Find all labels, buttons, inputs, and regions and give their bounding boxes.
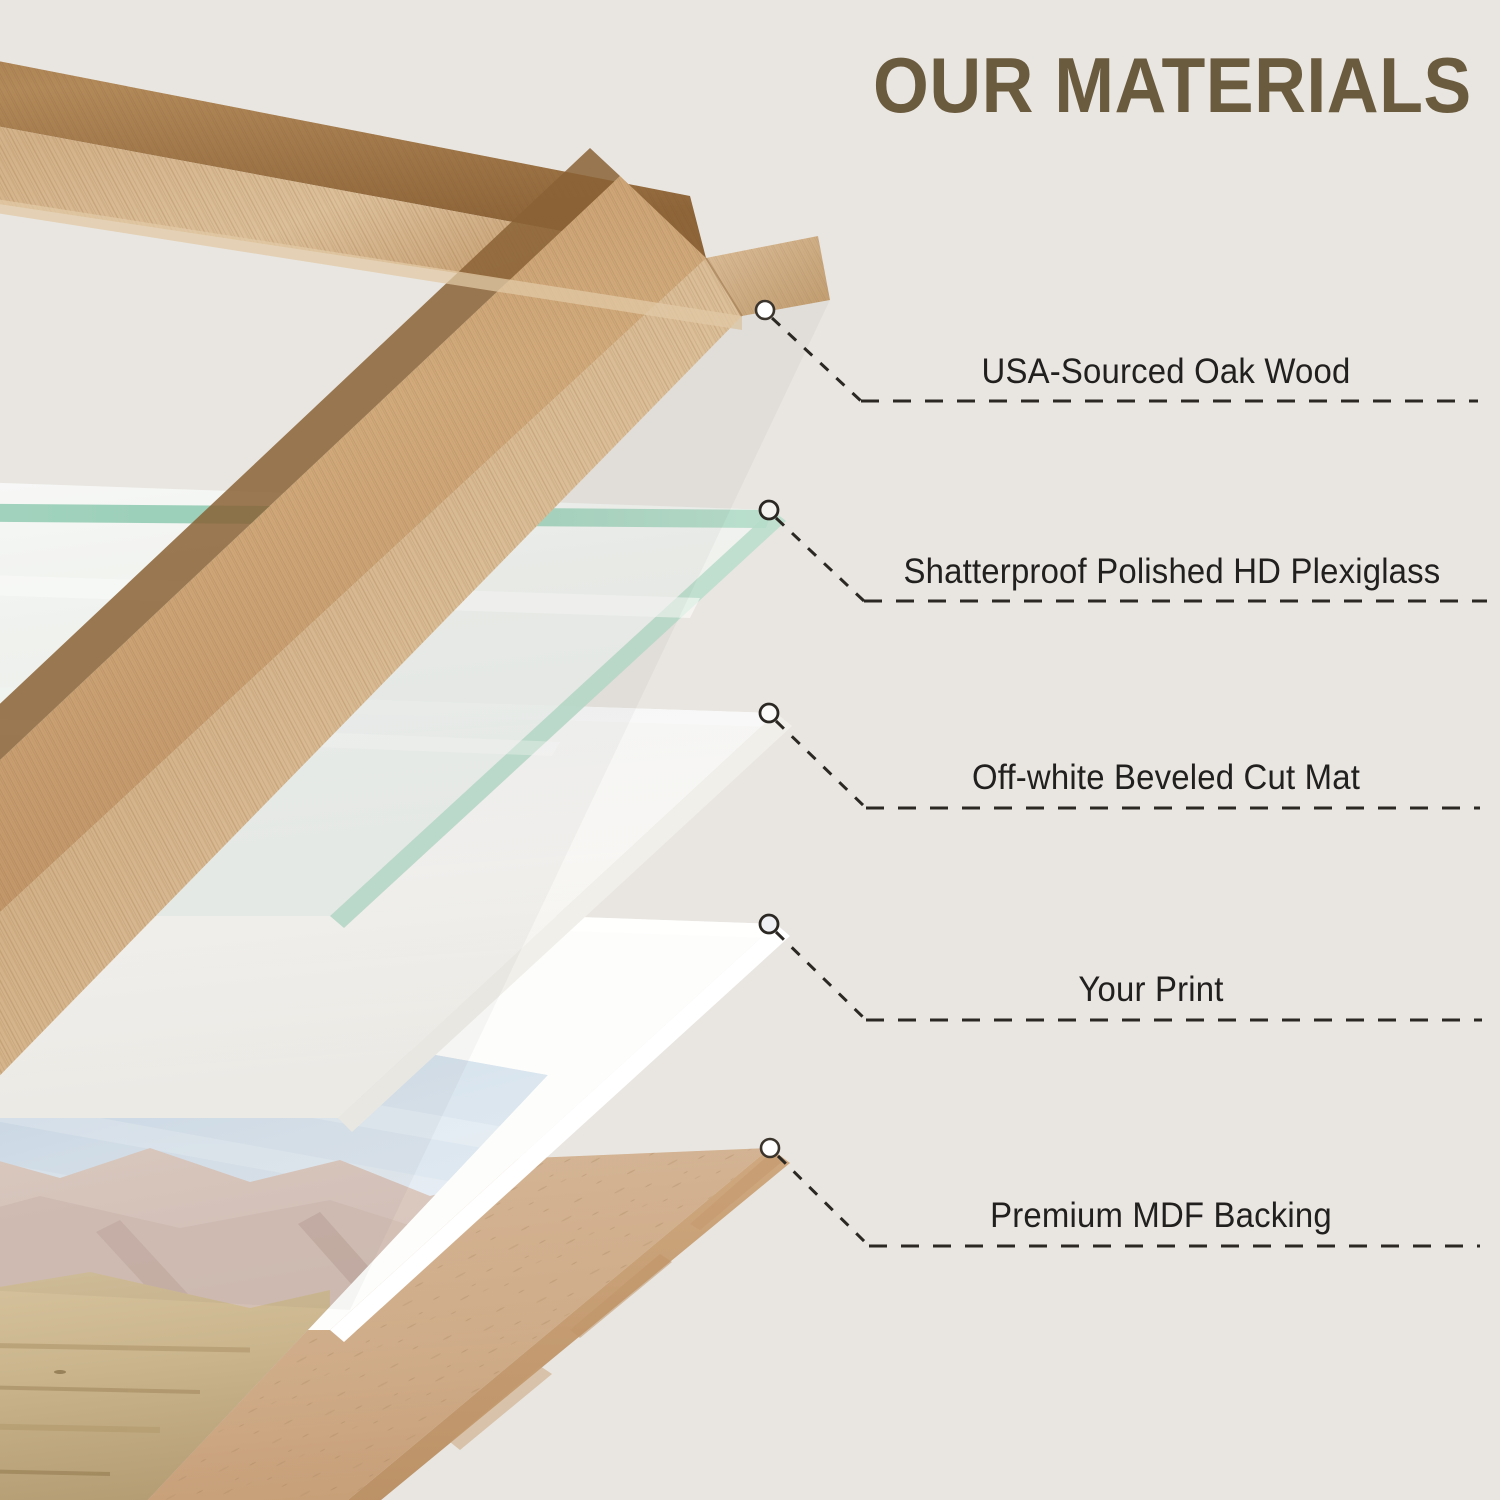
hollow-dot-marker bbox=[760, 704, 778, 722]
callout-label-your-print: Your Print bbox=[1078, 970, 1223, 1010]
callout-label-mat: Off-white Beveled Cut Mat bbox=[972, 758, 1360, 798]
callout-label-oak-wood: USA-Sourced Oak Wood bbox=[982, 352, 1351, 392]
callout-label-plexiglass: Shatterproof Polished HD Plexiglass bbox=[904, 552, 1441, 592]
callout-lines-overlay bbox=[0, 0, 1500, 1500]
filled-dot-marker bbox=[756, 301, 774, 319]
materials-infographic: OUR MATERIALS bbox=[0, 0, 1500, 1500]
callout-label-mdf-backing: Premium MDF Backing bbox=[990, 1196, 1332, 1236]
hollow-dot-marker bbox=[760, 915, 778, 933]
hollow-dot-marker bbox=[760, 501, 778, 519]
filled-dot-marker bbox=[761, 1139, 779, 1157]
